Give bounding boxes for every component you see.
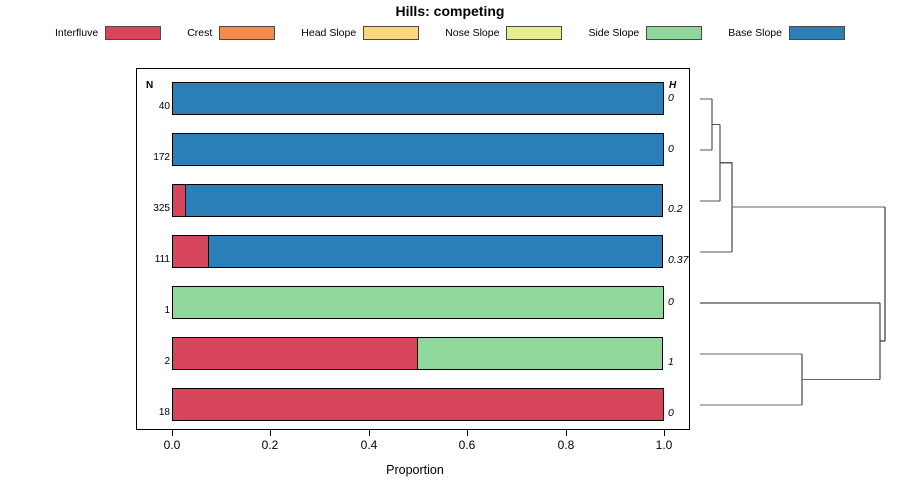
stacked-bar-hamel[interactable] [172,286,664,319]
dendrogram [690,68,900,430]
x-tick-label: 0.8 [558,438,575,452]
legend-label: Interfluve [55,27,105,39]
x-tick-label: 0.2 [262,438,279,452]
legend-item-interfluve: Interfluve [55,26,187,40]
bar-segment-base-slope[interactable] [208,235,663,268]
stacked-bar-brookston[interactable] [172,184,664,217]
x-tick-label: 0.6 [459,438,476,452]
x-tick-label: 0.0 [164,438,181,452]
stacked-bar-navan[interactable] [172,82,664,115]
bar-segment-base-slope[interactable] [172,133,664,166]
legend-swatch-nose-slope [506,26,562,40]
x-tick [172,430,173,436]
legend-label: Head Slope [301,27,363,39]
legend: Interfluve Crest Head Slope Nose Slope S… [0,24,900,42]
row-n-brookston: 325 [140,203,170,214]
legend-item-crest: Crest [187,26,301,40]
legend-swatch-crest [219,26,275,40]
row-n-barry: 172 [140,152,170,163]
x-tick [467,430,468,436]
bar-segment-interfluve[interactable] [172,235,209,268]
bar-segment-side-slope[interactable] [417,337,663,370]
legend-label: Crest [187,27,219,39]
legend-item-head-slope: Head Slope [301,26,445,40]
legend-item-base-slope: Base Slope [728,26,845,40]
column-header-n: N [146,80,153,91]
row-n-rensselaer: 111 [140,254,170,265]
stacked-bar-millgrove[interactable] [172,337,664,370]
x-tick [270,430,271,436]
bar-segment-base-slope[interactable] [185,184,662,217]
row-n-jameston: 18 [140,407,170,418]
bar-segment-side-slope[interactable] [172,286,664,319]
row-n-navan: 40 [140,101,170,112]
dendrogram-svg [690,68,900,430]
row-n-millgrove: 2 [140,356,170,367]
legend-item-nose-slope: Nose Slope [445,26,588,40]
x-axis-title: Proportion [0,463,830,477]
x-axis: 0.0 0.2 0.4 0.6 0.8 1.0 Proportion [0,430,900,500]
row-n-hamel: 1 [140,305,170,316]
legend-swatch-interfluve [105,26,161,40]
bar-segment-interfluve[interactable] [172,388,664,421]
bar-segment-base-slope[interactable] [172,82,664,115]
legend-label: Base Slope [728,27,789,39]
legend-swatch-side-slope [646,26,702,40]
column-header-h: H [669,80,676,91]
legend-swatch-head-slope [363,26,419,40]
chart-title: Hills: competing [0,3,900,19]
x-tick [566,430,567,436]
x-tick-label: 0.4 [361,438,378,452]
stacked-bar-barry[interactable] [172,133,664,166]
bar-segment-interfluve[interactable] [172,337,418,370]
stacked-bar-jameston[interactable] [172,388,664,421]
legend-item-side-slope: Side Slope [588,26,728,40]
legend-label: Side Slope [588,27,646,39]
stacked-bar-rensselaer[interactable] [172,235,664,268]
x-tick [664,430,665,436]
legend-swatch-base-slope [789,26,845,40]
x-tick [369,430,370,436]
chart-root: Hills: competing Interfluve Crest Head S… [0,0,900,500]
x-tick-label: 1.0 [656,438,673,452]
legend-label: Nose Slope [445,27,506,39]
